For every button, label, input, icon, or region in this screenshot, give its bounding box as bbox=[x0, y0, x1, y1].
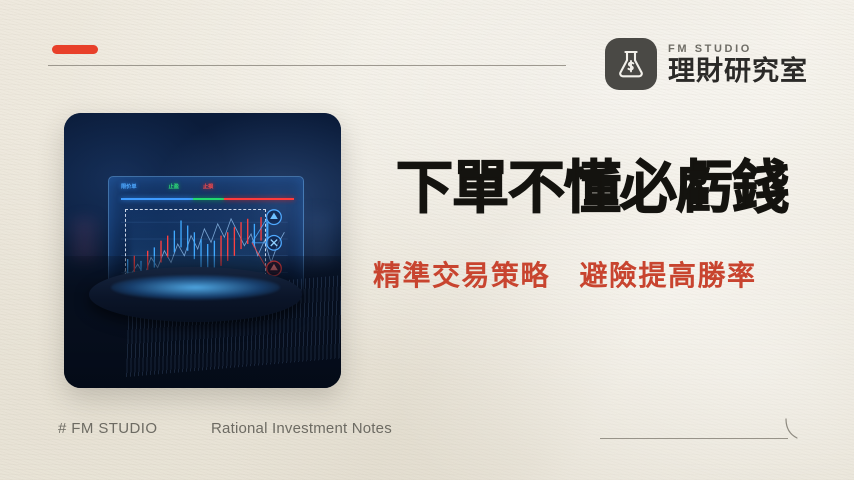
brand-title: 理財研究室 bbox=[668, 58, 808, 85]
hero-image-card[interactable]: 限价单 止盈 止损 bbox=[64, 113, 341, 388]
poster-canvas: FM STUDIO 理財研究室 限价单 止盈 止损 bbox=[0, 0, 854, 480]
bottom-divider-line bbox=[600, 438, 788, 439]
stop-loss-label: 止损 bbox=[203, 183, 213, 190]
brand-text: FM STUDIO 理財研究室 bbox=[668, 44, 808, 85]
footer-note: Rational Investment Notes bbox=[211, 420, 392, 437]
flask-dollar-icon bbox=[605, 38, 657, 90]
brand-logo[interactable]: FM STUDIO 理財研究室 bbox=[605, 38, 808, 90]
top-divider-line bbox=[48, 65, 566, 66]
page-subtitle: 精準交易策略 避險提高勝率 bbox=[373, 262, 813, 290]
brand-kicker: FM STUDIO bbox=[668, 44, 808, 55]
projector-glow-ring bbox=[111, 275, 280, 300]
red-accent-pill bbox=[52, 45, 98, 54]
take-profit-label: 止盈 bbox=[169, 183, 179, 190]
hologram-legend: 限价单 止盈 止损 bbox=[121, 183, 299, 190]
page-title: 下單不懂必虧錢 bbox=[396, 160, 816, 217]
hologram-photo: 限价单 止盈 止损 bbox=[64, 113, 341, 388]
bokeh-shape bbox=[72, 218, 97, 262]
limit-order-label: 限价单 bbox=[121, 183, 137, 190]
corner-hook-flourish bbox=[784, 418, 800, 440]
footer-tag: # FM STUDIO bbox=[58, 420, 157, 437]
